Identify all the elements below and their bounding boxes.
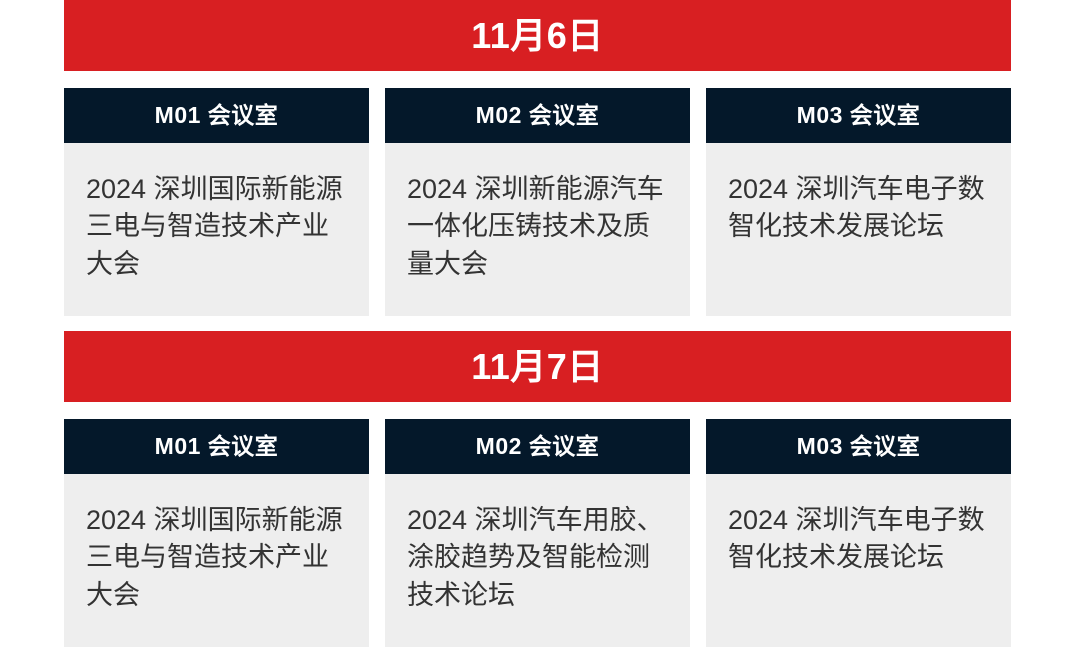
room-name-label: M01 会议室 (155, 435, 279, 458)
spacer (64, 316, 1017, 331)
day-block-2: 11月7日 M01 会议室 2024 深圳国际新能源三电与智造技术产业大会 M0… (64, 331, 1011, 647)
day-date-banner: 11月6日 (64, 0, 1011, 71)
room-name-label: M03 会议室 (797, 435, 921, 458)
session-panel-m02: 2024 深圳新能源汽车一体化压铸技术及质量大会 (385, 143, 690, 316)
room-row: M01 会议室 2024 深圳国际新能源三电与智造技术产业大会 M02 会议室 … (64, 419, 1011, 647)
session-title: 2024 深圳汽车电子数智化技术发展论坛 (728, 502, 993, 577)
session-panel-m03: 2024 深圳汽车电子数智化技术发展论坛 (706, 143, 1011, 316)
day-date-banner: 11月7日 (64, 331, 1011, 402)
session-panel-m02: 2024 深圳汽车用胶、涂胶趋势及智能检测技术论坛 (385, 474, 690, 647)
conference-schedule: 11月6日 M01 会议室 2024 深圳国际新能源三电与智造技术产业大会 M0… (0, 0, 1081, 660)
spacer (64, 71, 1011, 88)
spacer (64, 402, 1011, 419)
room-column-m01[interactable]: M01 会议室 2024 深圳国际新能源三电与智造技术产业大会 (64, 419, 369, 647)
session-title: 2024 深圳新能源汽车一体化压铸技术及质量大会 (407, 171, 672, 283)
room-header-m02: M02 会议室 (385, 88, 690, 143)
day-date-label: 11月6日 (471, 18, 604, 54)
room-header-m01: M01 会议室 (64, 88, 369, 143)
room-column-m02[interactable]: M02 会议室 2024 深圳汽车用胶、涂胶趋势及智能检测技术论坛 (385, 419, 690, 647)
room-name-label: M02 会议室 (476, 435, 600, 458)
room-column-m02[interactable]: M02 会议室 2024 深圳新能源汽车一体化压铸技术及质量大会 (385, 88, 690, 316)
session-panel-m03: 2024 深圳汽车电子数智化技术发展论坛 (706, 474, 1011, 647)
room-header-m03: M03 会议室 (706, 88, 1011, 143)
day-date-label: 11月7日 (471, 349, 604, 385)
session-title: 2024 深圳汽车用胶、涂胶趋势及智能检测技术论坛 (407, 502, 672, 614)
room-name-label: M02 会议室 (476, 104, 600, 127)
room-column-m01[interactable]: M01 会议室 2024 深圳国际新能源三电与智造技术产业大会 (64, 88, 369, 316)
day-block-1: 11月6日 M01 会议室 2024 深圳国际新能源三电与智造技术产业大会 M0… (64, 0, 1011, 316)
room-name-label: M01 会议室 (155, 104, 279, 127)
room-row: M01 会议室 2024 深圳国际新能源三电与智造技术产业大会 M02 会议室 … (64, 88, 1011, 316)
session-panel-m01: 2024 深圳国际新能源三电与智造技术产业大会 (64, 474, 369, 647)
room-header-m01: M01 会议室 (64, 419, 369, 474)
room-header-m03: M03 会议室 (706, 419, 1011, 474)
room-column-m03[interactable]: M03 会议室 2024 深圳汽车电子数智化技术发展论坛 (706, 419, 1011, 647)
room-name-label: M03 会议室 (797, 104, 921, 127)
session-title: 2024 深圳国际新能源三电与智造技术产业大会 (86, 502, 351, 614)
session-title: 2024 深圳国际新能源三电与智造技术产业大会 (86, 171, 351, 283)
session-title: 2024 深圳汽车电子数智化技术发展论坛 (728, 171, 993, 246)
session-panel-m01: 2024 深圳国际新能源三电与智造技术产业大会 (64, 143, 369, 316)
room-header-m02: M02 会议室 (385, 419, 690, 474)
room-column-m03[interactable]: M03 会议室 2024 深圳汽车电子数智化技术发展论坛 (706, 88, 1011, 316)
